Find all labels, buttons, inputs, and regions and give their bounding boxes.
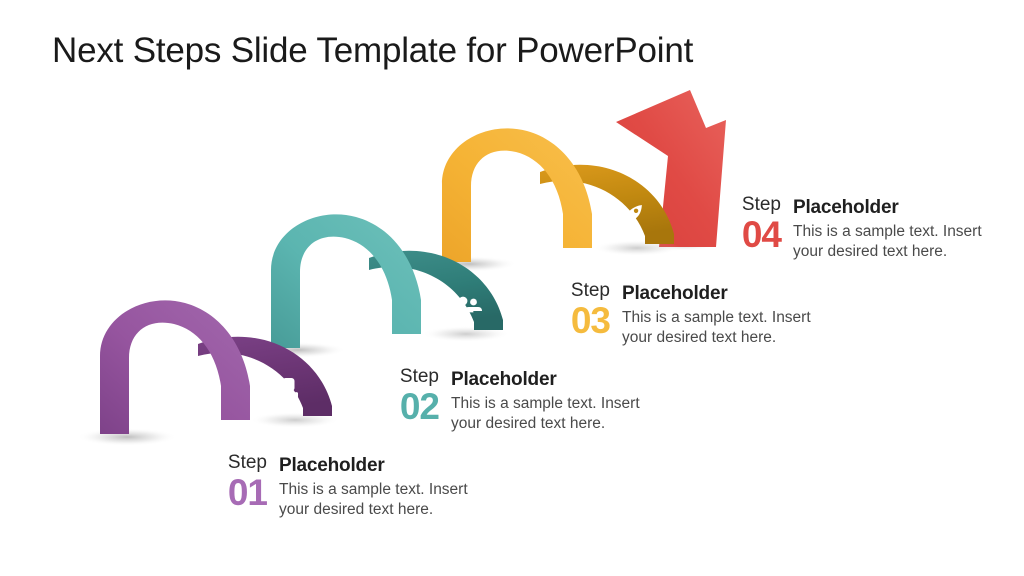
next-steps-diagram <box>0 0 1024 576</box>
step-number-group-2: Step 02 <box>377 366 451 425</box>
step-heading-2: Placeholder <box>451 368 641 391</box>
step-block-1: Step 01 Placeholder This is a sample tex… <box>205 452 469 520</box>
step-text-group-3: Placeholder This is a sample text. Inser… <box>622 280 812 348</box>
step-body-3: This is a sample text. Insert your desir… <box>622 308 812 348</box>
step-text-group-2: Placeholder This is a sample text. Inser… <box>451 366 641 434</box>
step-block-3: Step 03 Placeholder This is a sample tex… <box>548 280 812 348</box>
step-body-4: This is a sample text. Insert your desir… <box>793 222 983 262</box>
step-number-group-4: Step 04 <box>719 194 793 253</box>
step-block-2: Step 02 Placeholder This is a sample tex… <box>377 366 641 434</box>
step-heading-4: Placeholder <box>793 196 983 219</box>
step-heading-1: Placeholder <box>279 454 469 477</box>
step-heading-3: Placeholder <box>622 282 812 305</box>
step-label-3: Step <box>548 280 610 302</box>
step-number-2: 02 <box>377 389 439 425</box>
step-label-4: Step <box>719 194 781 216</box>
step-number-3: 03 <box>548 303 610 339</box>
step-text-group-4: Placeholder This is a sample text. Inser… <box>793 194 983 262</box>
step-label-2: Step <box>377 366 439 388</box>
magnifier-icon <box>115 464 138 487</box>
step-body-2: This is a sample text. Insert your desir… <box>451 394 641 434</box>
step-label-1: Step <box>205 452 267 474</box>
step-text-group-1: Placeholder This is a sample text. Inser… <box>279 452 469 520</box>
step-block-4: Step 04 Placeholder This is a sample tex… <box>719 194 983 262</box>
step-number-1: 01 <box>205 475 267 511</box>
step-number-group-1: Step 01 <box>205 452 279 511</box>
step-number-4: 04 <box>719 217 781 253</box>
arch-step-3 <box>421 128 681 272</box>
slide-canvas: Next Steps Slide Template for PowerPoint <box>0 0 1024 576</box>
step-body-1: This is a sample text. Insert your desir… <box>279 480 469 520</box>
step-number-group-3: Step 03 <box>548 280 622 339</box>
